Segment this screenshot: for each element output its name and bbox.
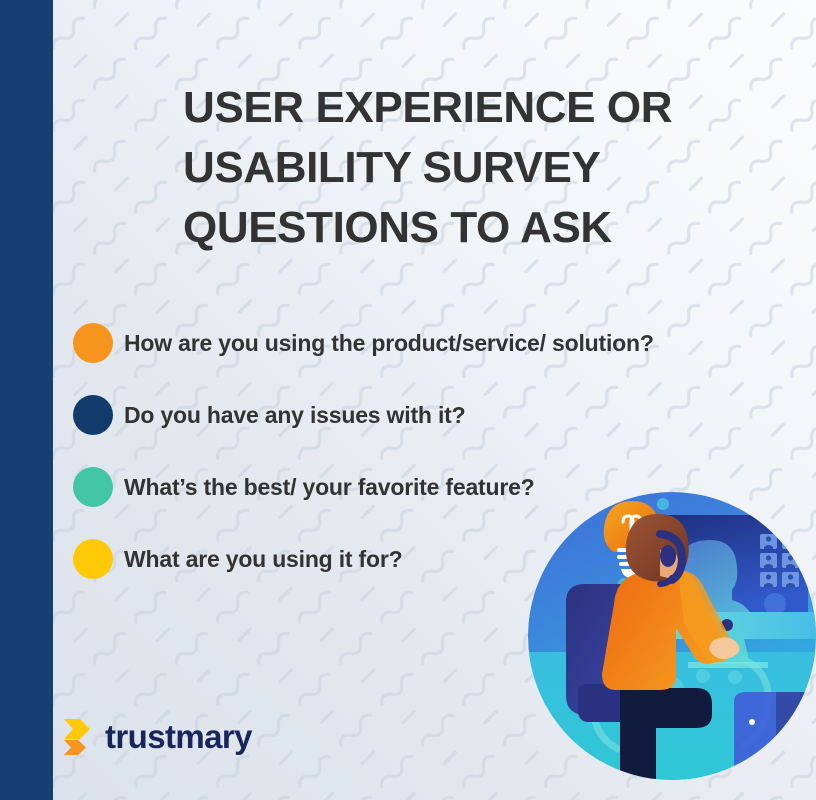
question-text: What are you using it for? bbox=[124, 546, 402, 573]
bullet-dot-icon bbox=[73, 467, 113, 507]
poster-canvas: User Experience or Usability Survey Ques… bbox=[0, 0, 816, 800]
bullet-dot-icon bbox=[73, 539, 113, 579]
brand-logo: trustmary bbox=[64, 718, 252, 756]
list-item: Do you have any issues with it? bbox=[73, 379, 773, 451]
brand-name: trustmary bbox=[105, 718, 252, 756]
title-line-3: Questions to Ask bbox=[183, 198, 743, 258]
question-text: What’s the best/ your favorite feature? bbox=[124, 474, 535, 501]
video-call-support-agent-illustration bbox=[528, 492, 816, 780]
bullet-dot-icon bbox=[73, 395, 113, 435]
left-accent-bar bbox=[0, 0, 53, 800]
decor-circle bbox=[728, 670, 742, 684]
question-text: How are you using the product/service/ s… bbox=[124, 330, 654, 357]
list-item: How are you using the product/service/ s… bbox=[73, 307, 773, 379]
question-text: Do you have any issues with it? bbox=[124, 402, 465, 429]
chevron-arrow-icon bbox=[64, 718, 94, 756]
page-title: User Experience or Usability Survey Ques… bbox=[183, 78, 743, 258]
title-line-1: User Experience or bbox=[183, 78, 743, 138]
title-line-2: Usability Survey bbox=[183, 138, 743, 198]
decor-circle bbox=[696, 669, 710, 683]
bullet-dot-icon bbox=[73, 323, 113, 363]
decor-circle bbox=[657, 498, 669, 510]
